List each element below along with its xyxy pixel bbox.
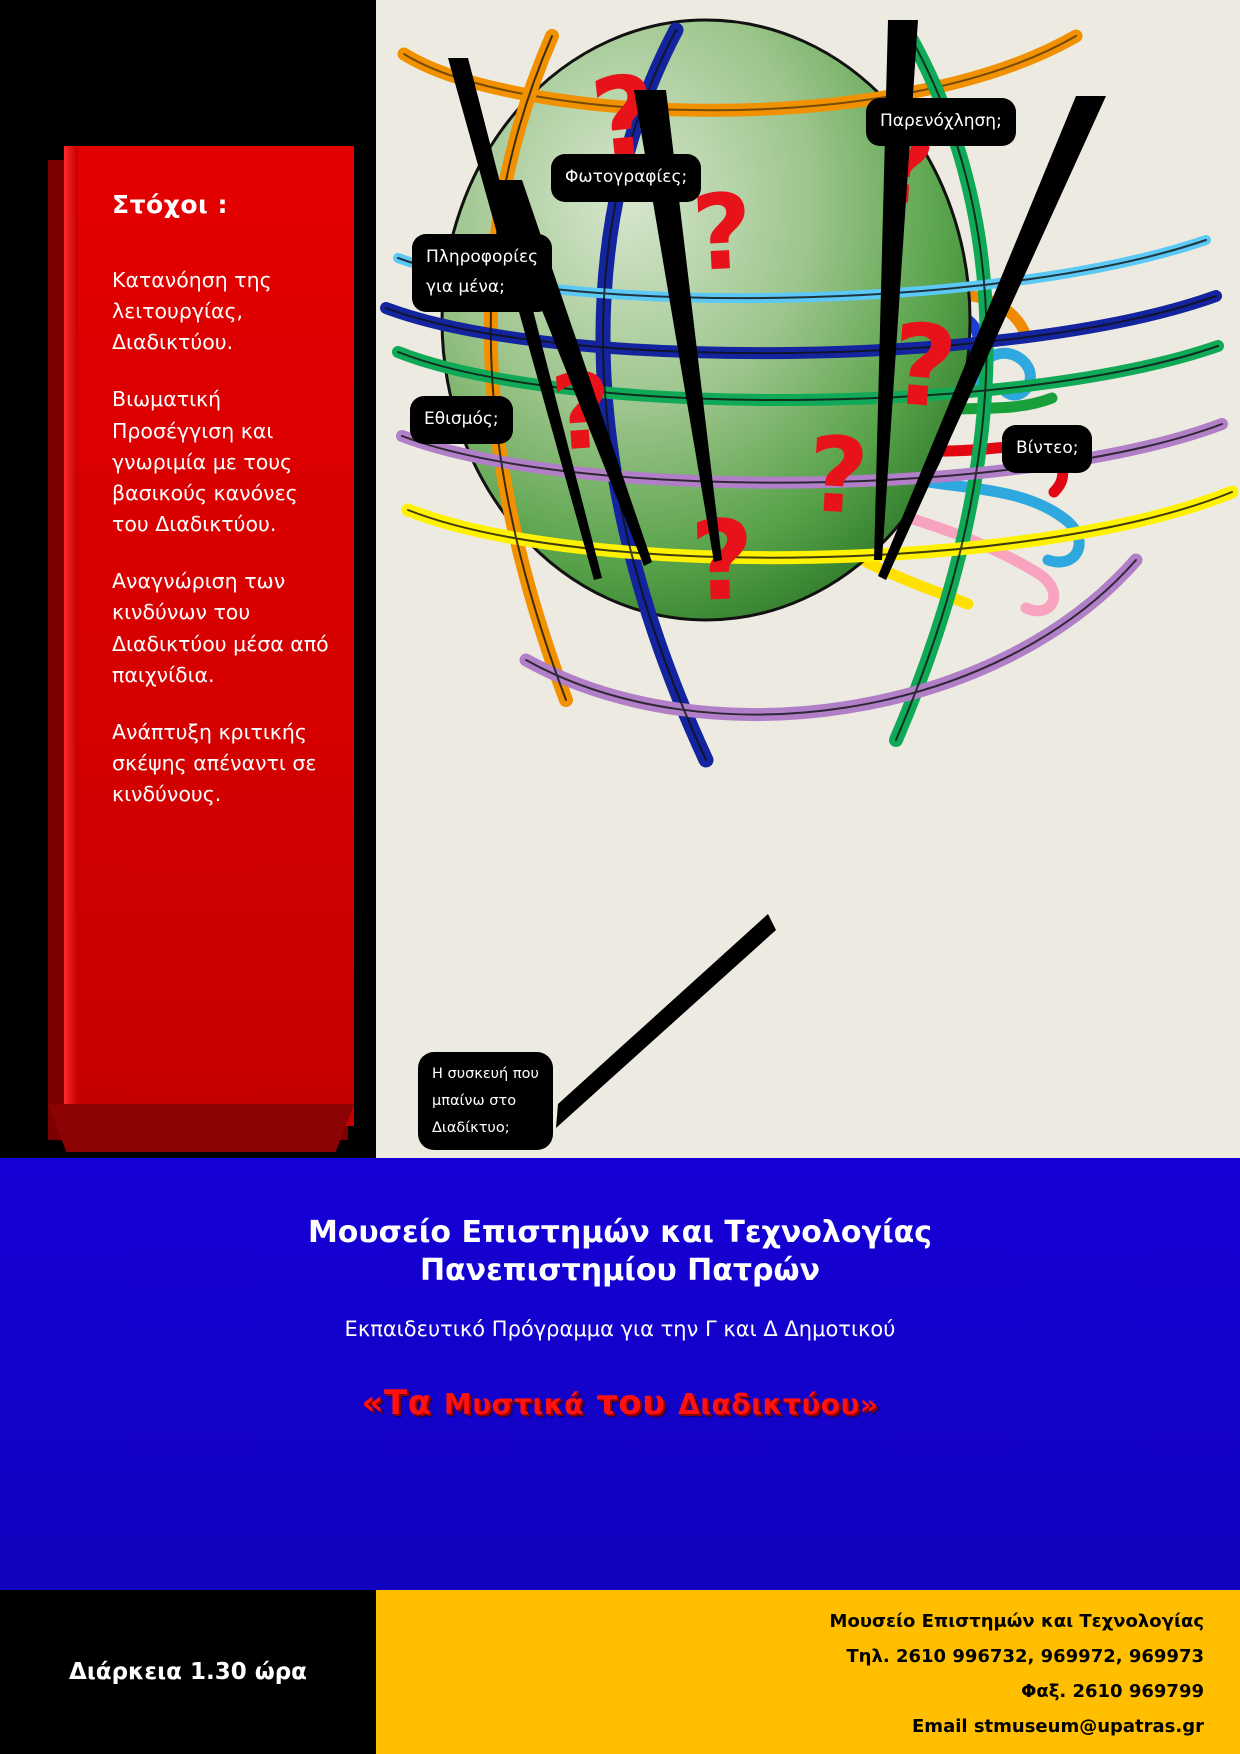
globe-illustration: ? ? ? ? ? ? ? (376, 0, 1240, 1158)
objective-item-4: Ανάπτυξη κριτικής σκέψης απέναντι σε κιν… (112, 717, 338, 810)
contact-line-email[interactable]: Email stmuseum@upatras.gr (376, 1709, 1220, 1744)
title-part-main: Μυστικά (444, 1388, 584, 1421)
organization-line-2: Πανεπιστημίου Πατρών (0, 1252, 1240, 1290)
svg-text:?: ? (688, 496, 756, 626)
footer-blue-band: Μουσείο Επιστημών και Τεχνολογίας Πανεπι… (0, 1158, 1240, 1590)
bubble-info-about-me[interactable]: Πληροφορίες για μένα; (412, 234, 552, 312)
bubble-addiction[interactable]: Εθισμός; (410, 396, 513, 444)
globe-svg: ? ? ? ? ? ? ? (376, 0, 1240, 1158)
contact-line-phone: Τηλ. 2610 996732, 969972, 969973 (376, 1639, 1220, 1674)
title-part-open: «Τα (362, 1383, 444, 1423)
duration-label: Διάρκεια 1.30 ώρα (0, 1590, 376, 1754)
title-part-mid: του (584, 1383, 678, 1423)
contact-block: Μουσείο Επιστημών και Τεχνολογίας Τηλ. 2… (376, 1590, 1220, 1754)
contact-line-fax: Φαξ. 2610 969799 (376, 1674, 1220, 1709)
bubble-photos[interactable]: Φωτογραφίες; (551, 154, 701, 202)
organization-line-1: Μουσείο Επιστημών και Τεχνολογίας (0, 1214, 1240, 1252)
objectives-box-left-edge (64, 146, 78, 1126)
objective-item-1: Κατανόηση της λειτουργίας, Διαδικτύου. (112, 265, 338, 358)
title-part-end: Διαδικτύου» (678, 1388, 878, 1421)
objectives-box: Στόχοι : Κατανόηση της λειτουργίας, Διαδ… (64, 146, 354, 1126)
bubble-video[interactable]: Βίντεο; (1002, 425, 1092, 473)
svg-text:?: ? (805, 413, 872, 538)
bubble-harassment[interactable]: Παρενόχληση; (866, 98, 1016, 146)
objective-item-3: Αναγνώριση των κινδύνων του Διαδικτύου μ… (112, 566, 338, 691)
bubble-device[interactable]: Η συσκευή που μπαίνω στο Διαδίκτυο; (418, 1052, 553, 1150)
program-subtitle: Εκπαιδευτικό Πρόγραμμα για την Γ και Δ Δ… (0, 1317, 1240, 1341)
objective-item-2: Βιωματική Προσέγγιση και γνωριμία με του… (112, 384, 338, 540)
poster-main-title: «Τα Μυστικά του Διαδικτύου» (0, 1383, 1240, 1423)
poster-root: Στόχοι : Κατανόηση της λειτουργίας, Διαδ… (0, 0, 1240, 1754)
objectives-box-bevel-bottom (48, 1104, 354, 1152)
objectives-title: Στόχοι : (112, 190, 338, 219)
contact-line-museum: Μουσείο Επιστημών και Τεχνολογίας (376, 1604, 1220, 1639)
